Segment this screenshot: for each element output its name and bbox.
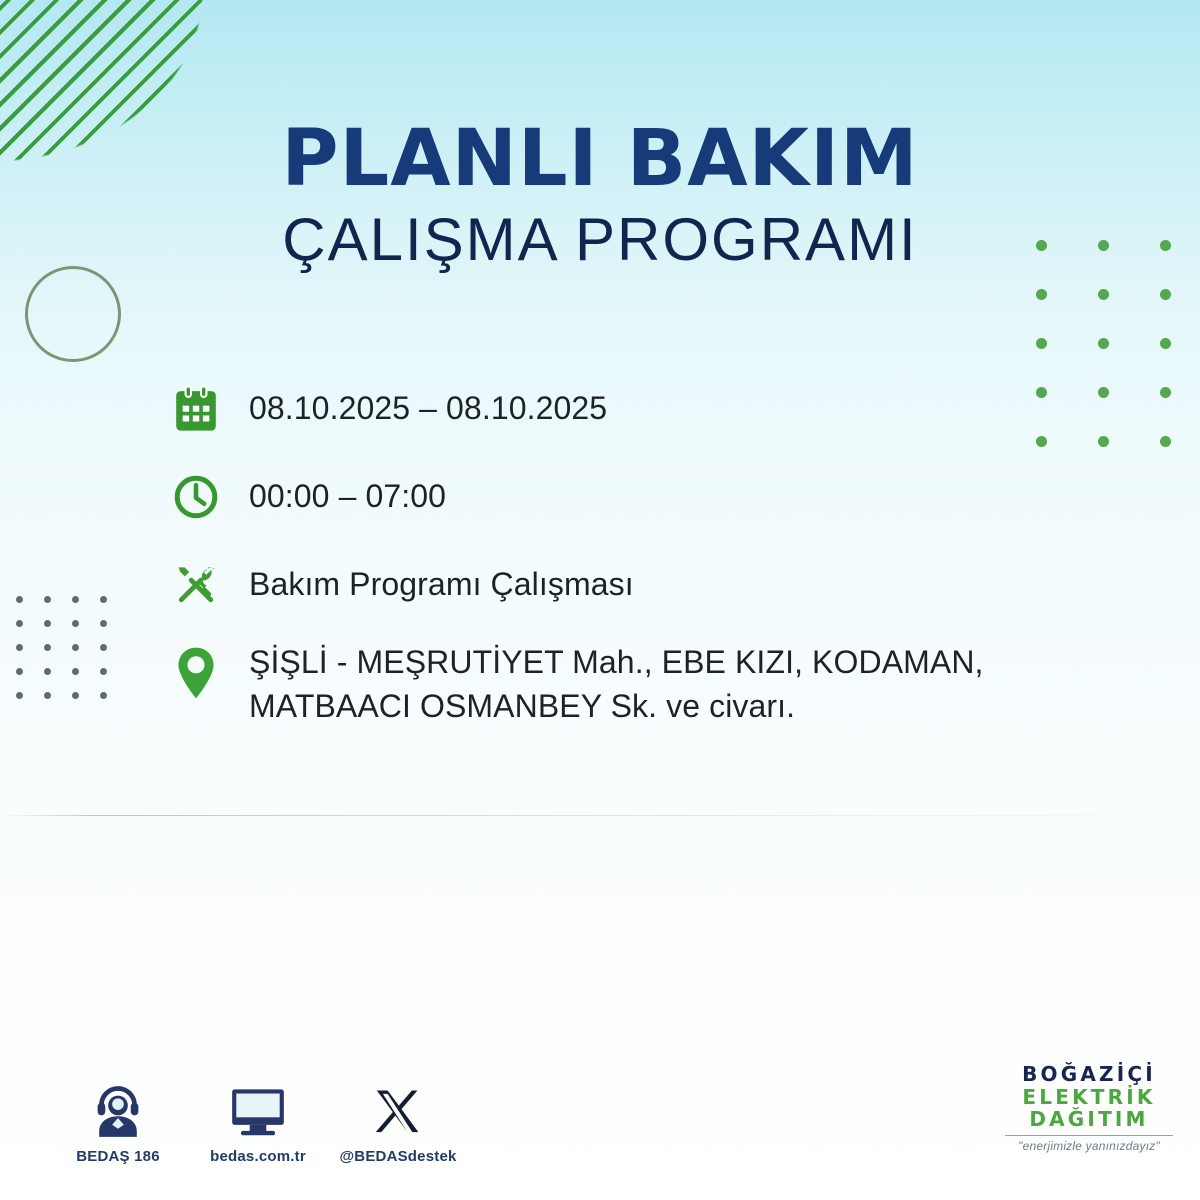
info-row-time: 00:00 – 07:00 [165,466,1125,528]
logo-line-elektrik: ELEKTRİK [1003,1086,1175,1109]
contact-website-label: bedas.com.tr [188,1148,328,1165]
page-header: PLANLI BAKIM ÇALIŞMA PROGRAMI [0,120,1200,270]
info-row-work-type: Bakım Programı Çalışması [165,554,1125,616]
info-row-time-value: 00:00 – 07:00 [227,466,446,518]
info-row-location-value: ŞİŞLİ - MEŞRUTİYET Mah., EBE KIZI, KODAM… [227,638,1125,728]
tools-icon [165,554,227,616]
logo-line-dagitim: DAĞITIM [1003,1108,1175,1131]
contact-x-social[interactable]: @BEDASdestek [328,1078,468,1165]
bedas-logo: BOĞAZİÇİ ELEKTRİK DAĞITIM "enerjimizle y… [1003,1063,1175,1153]
contact-x-label: @BEDASdestek [328,1148,468,1165]
maintenance-info-list: 08.10.2025 – 08.10.2025 00:00 – 07:00 Ba… [165,378,1125,752]
logo-divider [1005,1135,1173,1136]
clock-icon [165,466,227,528]
calendar-icon [165,378,227,440]
info-row-date-value: 08.10.2025 – 08.10.2025 [227,378,607,430]
info-row-work-type-value: Bakım Programı Çalışması [227,554,634,606]
page-title: PLANLI BAKIM [0,120,1200,198]
circle-outline-decoration [25,266,121,362]
footer-contacts: BEDAŞ 186 bedas.com.tr @BEDASdestek [48,1078,468,1165]
logo-line-bogazici: BOĞAZİÇİ [1003,1063,1175,1086]
section-divider [0,815,1200,816]
support-agent-icon [48,1078,188,1140]
logo-tagline: "enerjimizle yanınızdayız" [1003,1139,1175,1153]
page-subtitle: ÇALIŞMA PROGRAMI [0,210,1200,270]
contact-website[interactable]: bedas.com.tr [188,1078,328,1165]
dot-grid-left-decoration [16,596,128,716]
info-row-location: ŞİŞLİ - MEŞRUTİYET Mah., EBE KIZI, KODAM… [165,638,1125,728]
monitor-icon [188,1078,328,1140]
x-social-icon [328,1078,468,1140]
info-row-date: 08.10.2025 – 08.10.2025 [165,378,1125,440]
contact-phone[interactable]: BEDAŞ 186 [48,1078,188,1165]
location-pin-icon [165,642,227,704]
contact-phone-label: BEDAŞ 186 [48,1148,188,1165]
